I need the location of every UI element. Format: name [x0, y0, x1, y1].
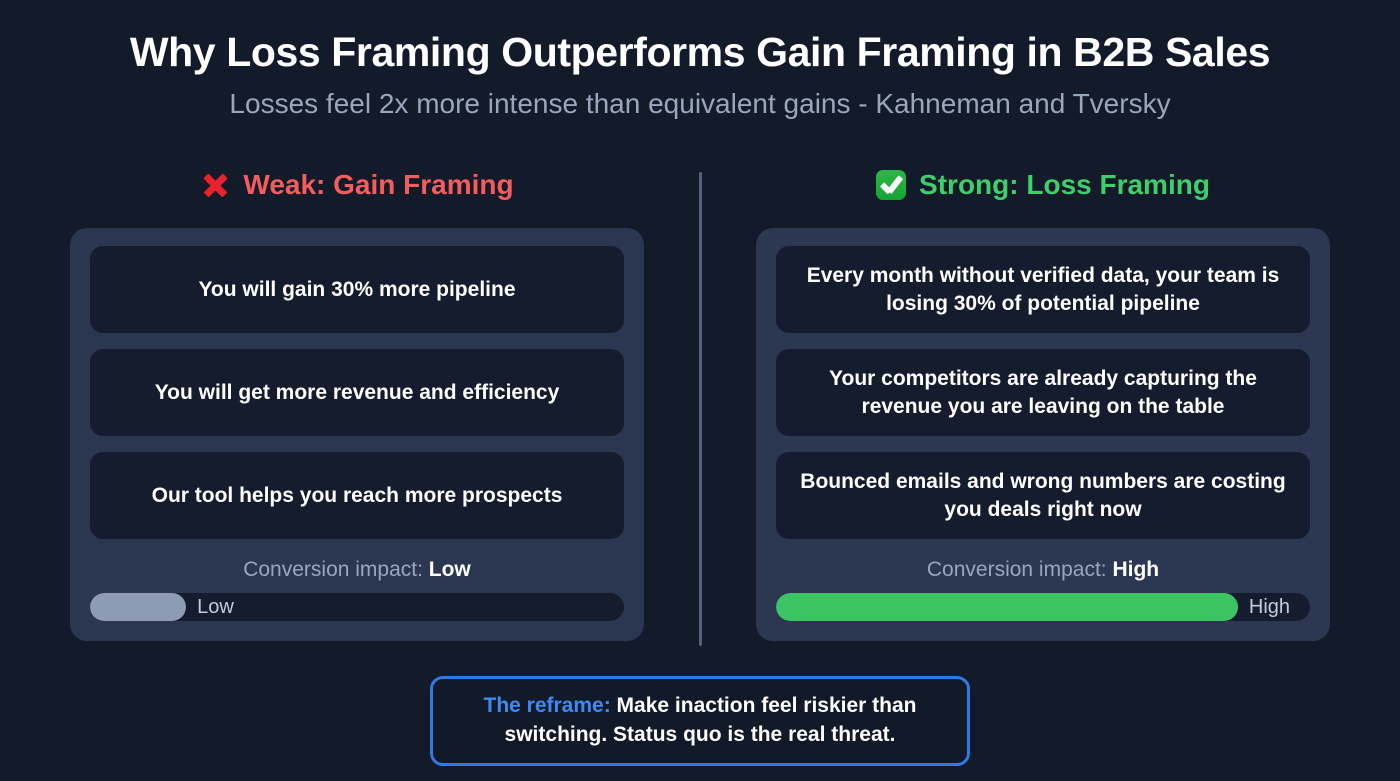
weak-statement-2: You will get more revenue and efficiency: [90, 349, 624, 436]
strong-impact-bar-fill: [776, 593, 1238, 621]
strong-impact-bar-label: High: [1238, 596, 1290, 619]
strong-statement-2: Your competitors are already capturing t…: [776, 349, 1310, 436]
page-title: Why Loss Framing Outperforms Gain Framin…: [0, 30, 1400, 76]
column-gap: [672, 160, 728, 641]
weak-impact-bar-fill: [90, 593, 186, 621]
comparison-columns: Weak: Gain Framing You will gain 30% mor…: [0, 160, 1400, 641]
green-check-icon: [876, 170, 906, 200]
weak-column-heading: Weak: Gain Framing: [200, 160, 513, 210]
reframe-callout: The reframe: Make inaction feel riskier …: [430, 676, 970, 766]
weak-statement-3: Our tool helps you reach more prospects: [90, 452, 624, 539]
strong-impact-prefix: Conversion impact:: [927, 558, 1113, 581]
weak-panel: You will gain 30% more pipeline You will…: [70, 228, 644, 641]
strong-impact-label: Conversion impact: High: [776, 558, 1310, 582]
weak-statement-1: You will gain 30% more pipeline: [90, 246, 624, 333]
strong-column-heading: Strong: Loss Framing: [876, 160, 1210, 210]
strong-column-heading-label: Strong: Loss Framing: [919, 169, 1210, 201]
strong-impact-bar: High: [776, 593, 1310, 621]
weak-impact-bar: Low: [90, 593, 624, 621]
strong-impact-value: High: [1112, 558, 1159, 581]
page-header: Why Loss Framing Outperforms Gain Framin…: [0, 0, 1400, 121]
weak-column: Weak: Gain Framing You will gain 30% mor…: [42, 160, 672, 641]
red-x-icon: [200, 170, 230, 200]
page-subtitle: Losses feel 2x more intense than equival…: [0, 87, 1400, 121]
strong-statement-1: Every month without verified data, your …: [776, 246, 1310, 333]
weak-column-heading-label: Weak: Gain Framing: [243, 169, 513, 201]
weak-impact-bar-label: Low: [186, 596, 234, 619]
strong-statement-3: Bounced emails and wrong numbers are cos…: [776, 452, 1310, 539]
reframe-label: The reframe:: [484, 694, 611, 717]
weak-impact-label: Conversion impact: Low: [90, 558, 624, 582]
weak-impact-prefix: Conversion impact:: [243, 558, 429, 581]
strong-column: Strong: Loss Framing Every month without…: [728, 160, 1358, 641]
weak-impact-value: Low: [429, 558, 471, 581]
strong-panel: Every month without verified data, your …: [756, 228, 1330, 641]
